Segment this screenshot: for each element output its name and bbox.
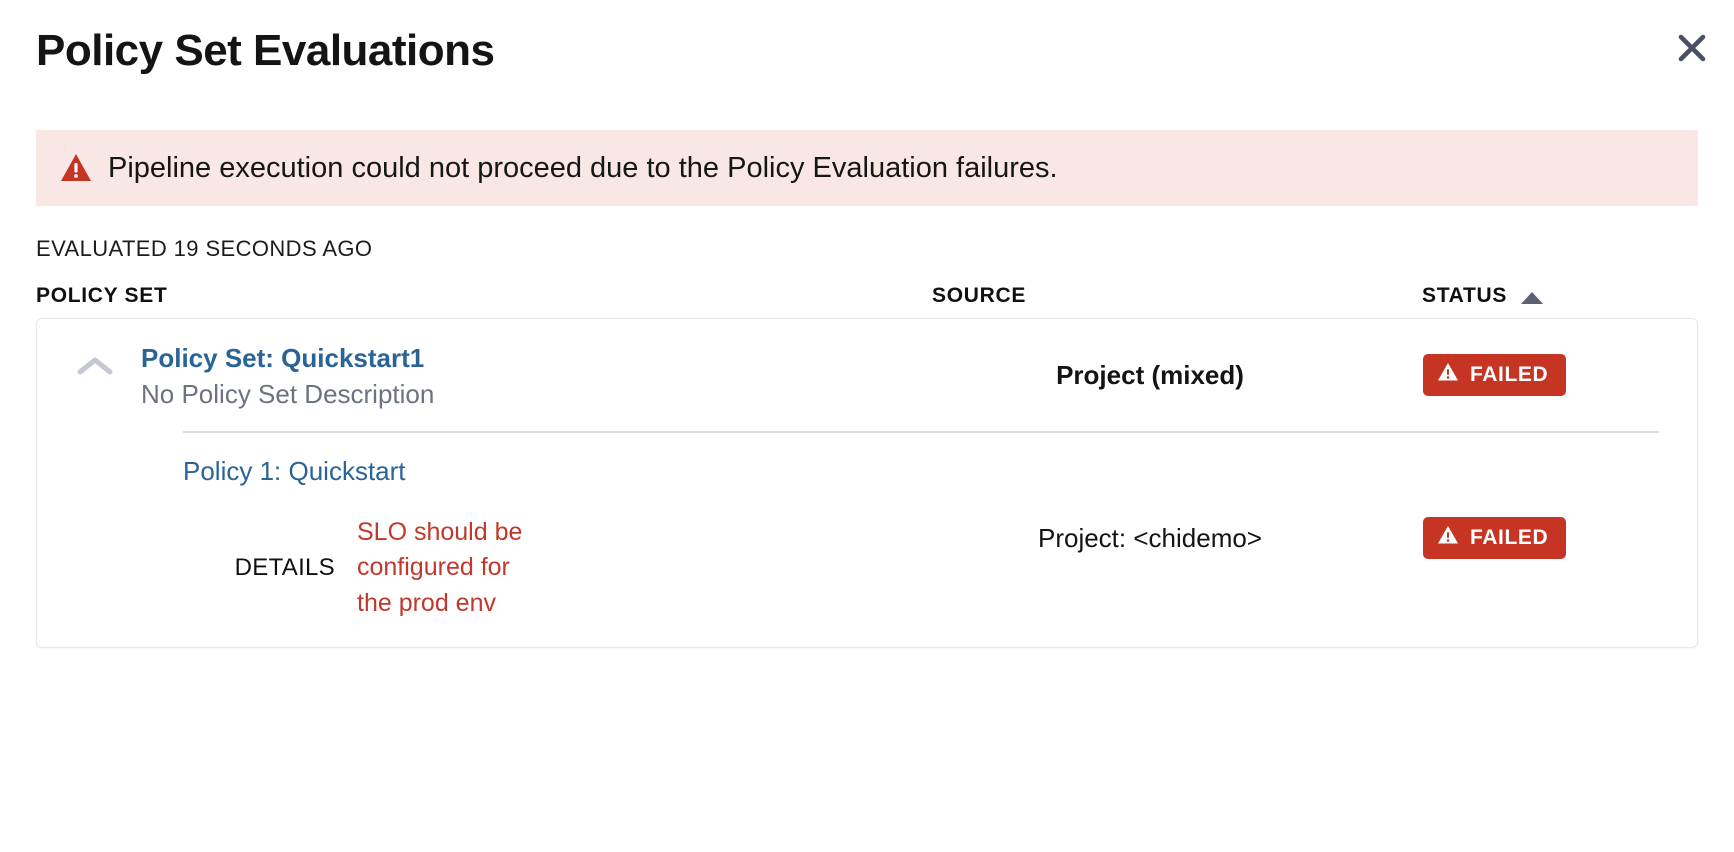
policy-set-card: Policy Set: Quickstart1 No Policy Set De… (36, 318, 1698, 648)
policy-cell: Policy 1: Quickstart DETAILS SLO should … (37, 455, 877, 621)
alert-message: Pipeline execution could not proceed due… (108, 151, 1058, 186)
evaluated-timestamp: EVALUATED 19 SECONDS AGO (36, 236, 1698, 262)
policy-set-source: Project (mixed) (877, 360, 1367, 391)
policy-set-evaluations-modal: Policy Set Evaluations Pipeline executio… (0, 0, 1734, 852)
close-icon (1677, 33, 1707, 63)
chevron-up-icon[interactable] (75, 354, 115, 378)
sort-ascending-arrow-icon[interactable] (1521, 292, 1543, 304)
column-header-source[interactable]: SOURCE (876, 284, 1366, 308)
column-header-status[interactable]: STATUS (1366, 284, 1666, 308)
status-badge-label: FAILED (1470, 526, 1548, 550)
column-header-status-label: STATUS (1422, 284, 1507, 308)
policy-set-texts: Policy Set: Quickstart1 No Policy Set De… (141, 338, 434, 413)
policy-evaluations-table: POLICY SET SOURCE STATUS Policy Set: Qui… (36, 262, 1698, 648)
policy-set-cell: Policy Set: Quickstart1 No Policy Set De… (37, 338, 877, 413)
policy-set-status: FAILED (1367, 354, 1667, 396)
policy-status: FAILED (1367, 517, 1667, 559)
error-alert-banner: Pipeline execution could not proceed due… (36, 130, 1698, 206)
status-badge-label: FAILED (1470, 363, 1548, 387)
policy-details-label: DETAILS (183, 554, 335, 582)
close-button[interactable] (1668, 24, 1716, 72)
policy-set-name-link[interactable]: Policy Set: Quickstart1 (141, 342, 434, 376)
policy-source: Project: <chidemo> (877, 523, 1367, 554)
warning-triangle-icon (1437, 362, 1459, 388)
policy-details: DETAILS SLO should be configured for the… (183, 515, 877, 622)
policy-row: Policy 1: Quickstart DETAILS SLO should … (37, 433, 1697, 647)
warning-triangle-icon (1437, 525, 1459, 551)
status-badge-failed[interactable]: FAILED (1423, 354, 1566, 396)
page-title: Policy Set Evaluations (36, 26, 1698, 77)
status-badge-failed[interactable]: FAILED (1423, 517, 1566, 559)
modal-header: Policy Set Evaluations (0, 0, 1734, 108)
policy-set-row: Policy Set: Quickstart1 No Policy Set De… (37, 319, 1697, 431)
column-header-policy-set[interactable]: POLICY SET (36, 284, 876, 308)
warning-triangle-icon (60, 153, 92, 183)
policy-name-link[interactable]: Policy 1: Quickstart (183, 455, 877, 489)
policy-details-value: SLO should be configured for the prod en… (357, 515, 547, 622)
policy-set-description: No Policy Set Description (141, 377, 434, 412)
table-header-row: POLICY SET SOURCE STATUS (36, 262, 1698, 318)
